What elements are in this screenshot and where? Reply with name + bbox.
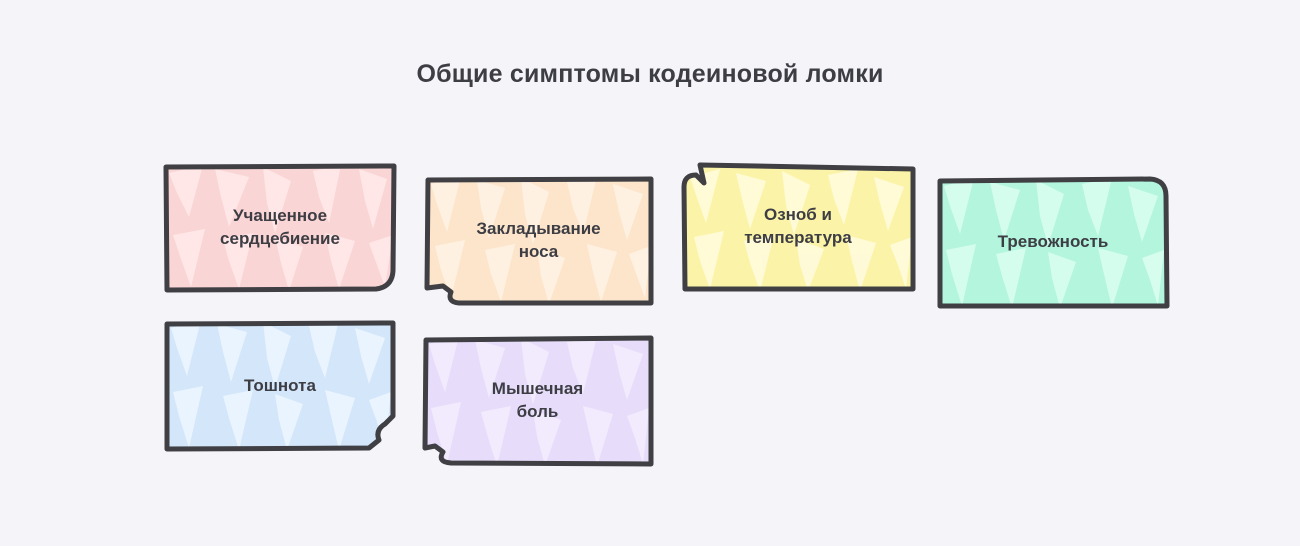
symptom-card-anxiety[interactable]: Тревожность — [936, 176, 1170, 309]
card-shape-nausea — [163, 320, 397, 453]
symptom-card-nasal-congestion[interactable]: Закладывание носа — [423, 176, 654, 306]
card-shape-nasal-congestion — [423, 176, 654, 306]
symptom-card-nausea[interactable]: Тошнота — [163, 320, 397, 453]
infographic-canvas: Общие симптомы кодеиновой ломки — [0, 0, 1300, 546]
card-shape-anxiety — [936, 176, 1170, 309]
card-shape-chills-and-fever — [680, 161, 916, 292]
card-shape-muscle-pain — [421, 334, 654, 467]
symptom-card-chills-and-fever[interactable]: Озноб и температура — [680, 161, 916, 292]
symptom-card-rapid-heartbeat[interactable]: Учащенное сердцебиение — [163, 163, 397, 293]
page-title: Общие симптомы кодеиновой ломки — [0, 60, 1300, 89]
symptom-card-muscle-pain[interactable]: Мышечная боль — [421, 334, 654, 467]
card-shape-rapid-heartbeat — [163, 163, 397, 293]
